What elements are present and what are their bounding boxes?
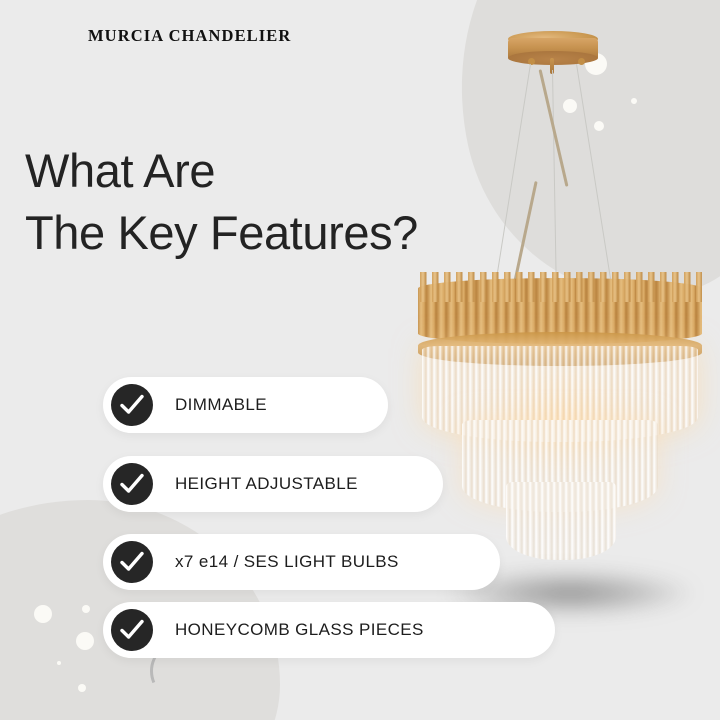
poster-canvas: MURCIA CHANDELIER What Are The Key Featu… xyxy=(0,0,720,720)
feature-pill[interactable]: HEIGHT ADJUSTABLE xyxy=(103,456,443,512)
feature-label: HEIGHT ADJUSTABLE xyxy=(175,474,358,494)
feature-list: DIMMABLEHEIGHT ADJUSTABLEx7 e14 / SES LI… xyxy=(0,0,720,720)
feature-pill[interactable]: x7 e14 / SES LIGHT BULBS xyxy=(103,534,500,590)
feature-label: x7 e14 / SES LIGHT BULBS xyxy=(175,552,399,572)
feature-label: DIMMABLE xyxy=(175,395,267,415)
feature-label: HONEYCOMB GLASS PIECES xyxy=(175,620,424,640)
check-icon xyxy=(111,463,153,505)
check-icon xyxy=(111,609,153,651)
check-icon xyxy=(111,384,153,426)
check-icon xyxy=(111,541,153,583)
feature-pill[interactable]: HONEYCOMB GLASS PIECES xyxy=(103,602,555,658)
feature-pill[interactable]: DIMMABLE xyxy=(103,377,388,433)
